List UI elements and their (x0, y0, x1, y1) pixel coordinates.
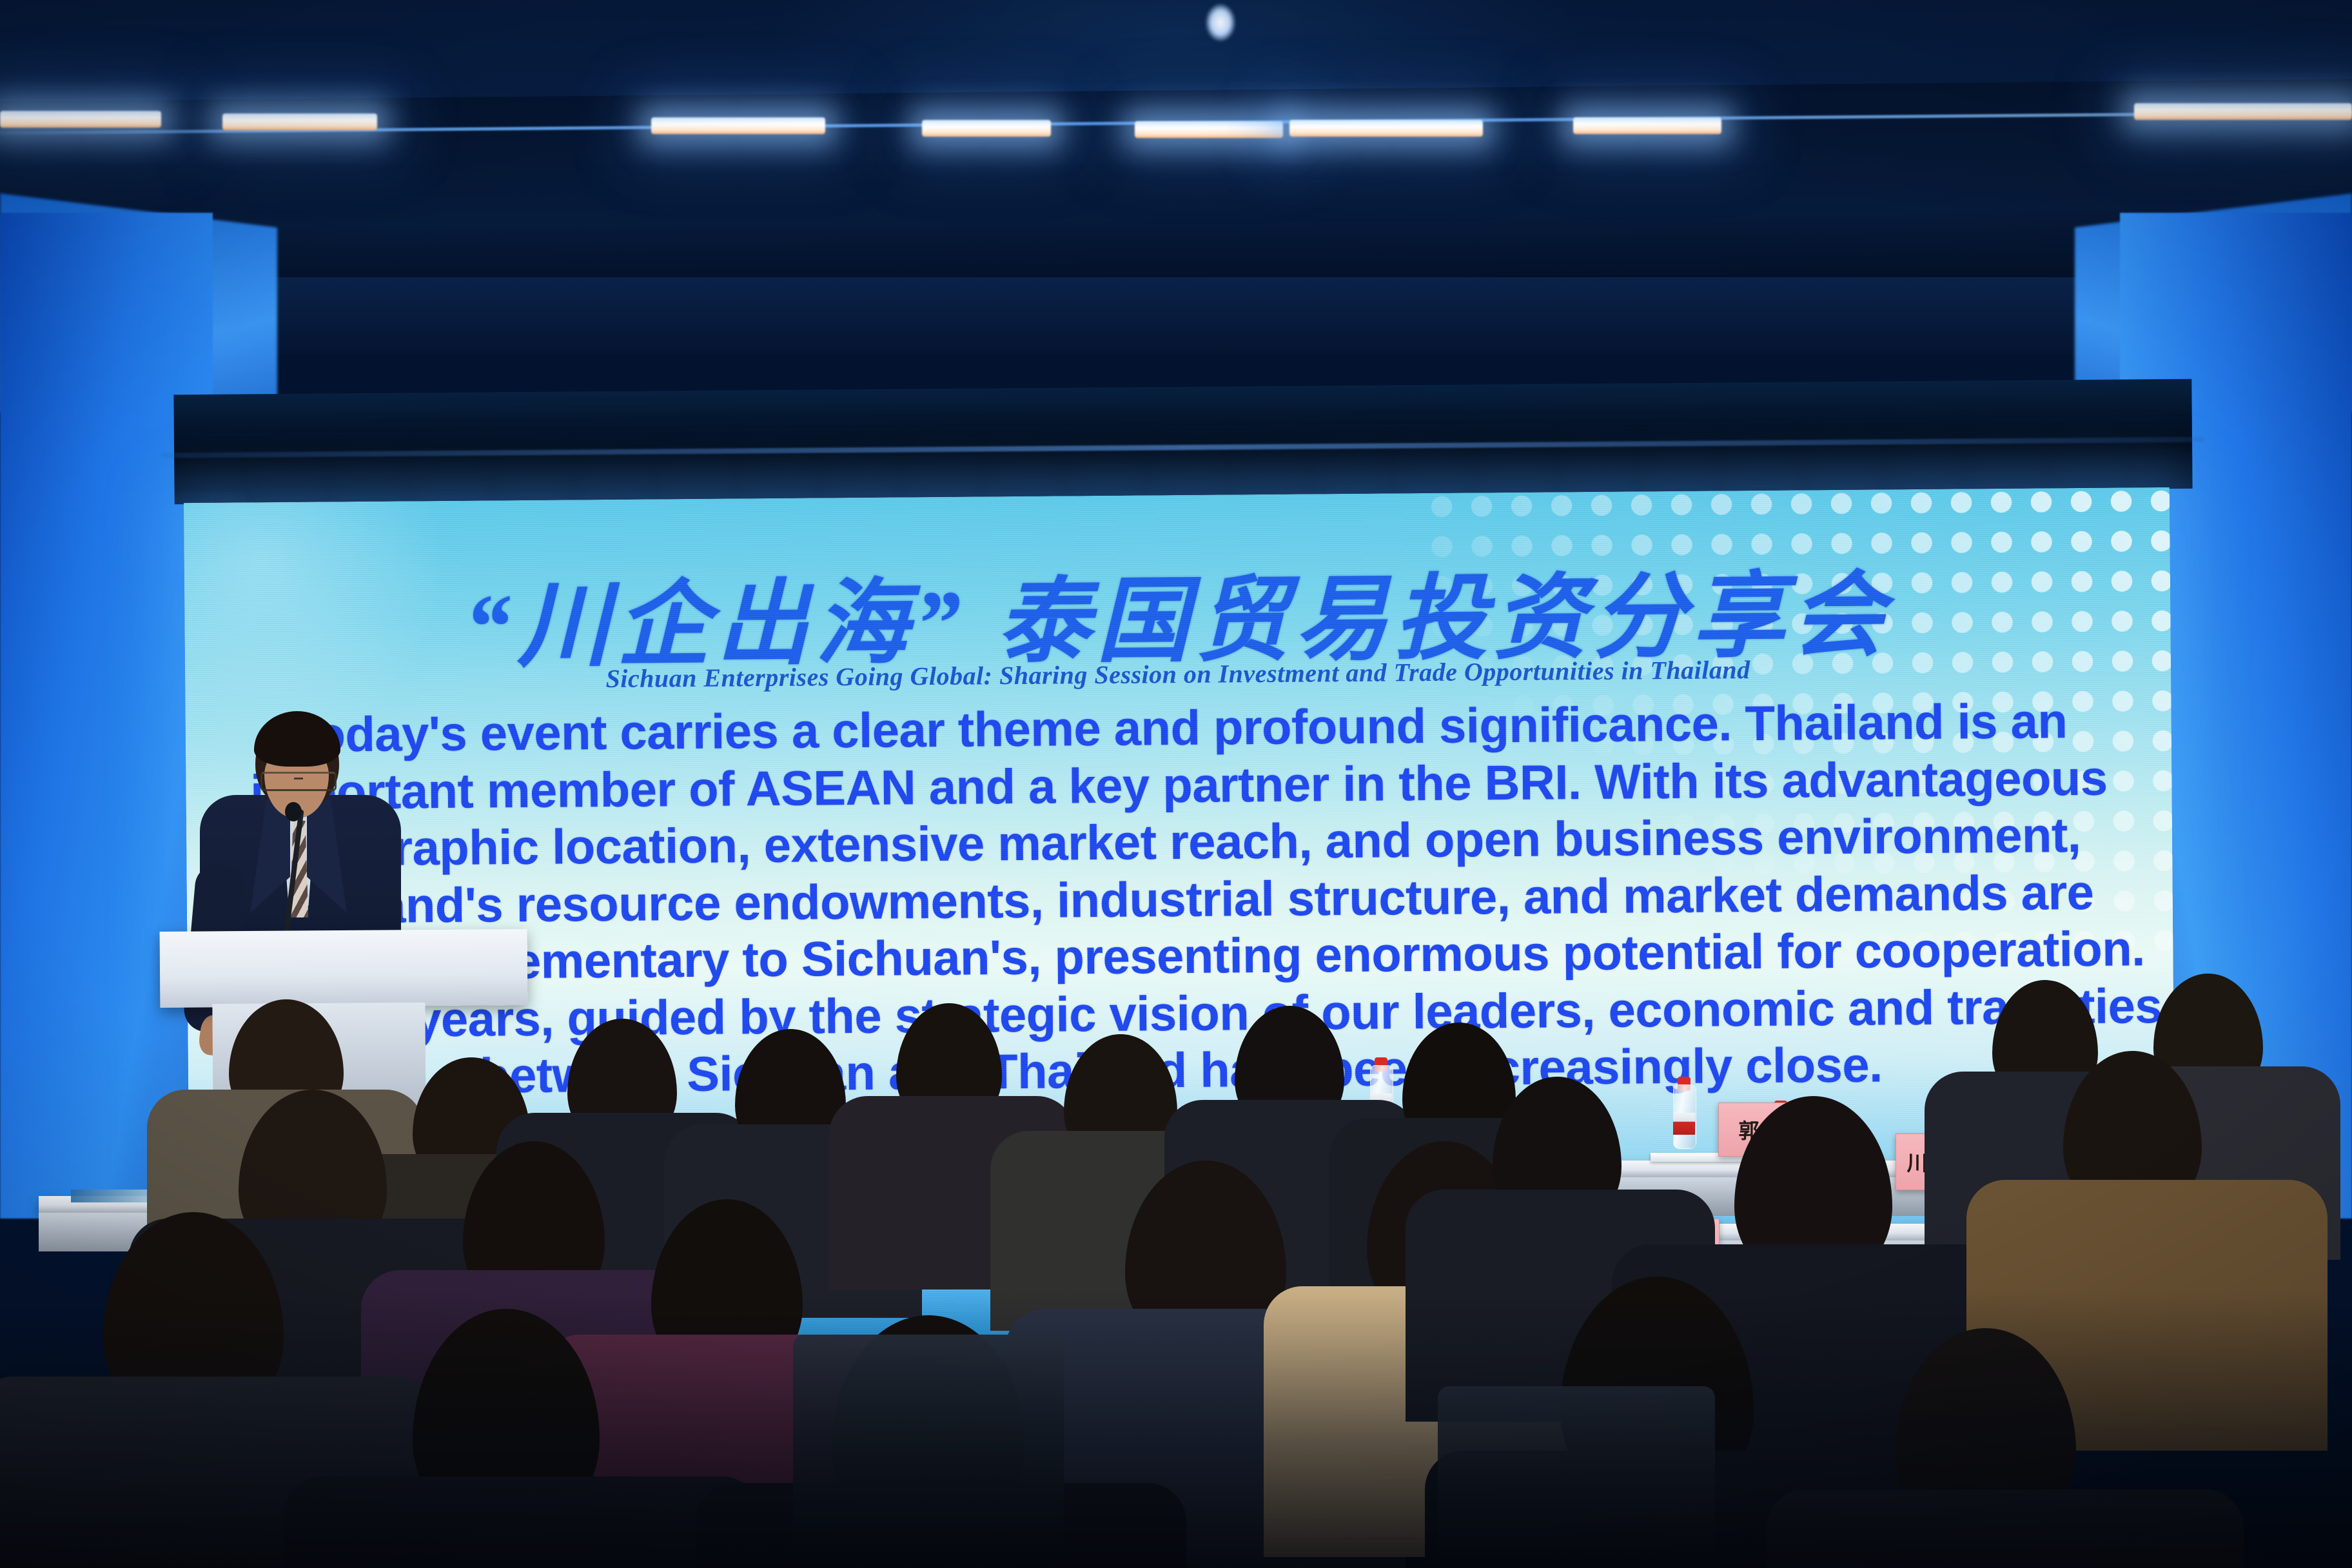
speaker-hair (254, 711, 340, 767)
ceiling-soffit (0, 277, 2352, 355)
ceiling-light-2 (222, 113, 377, 130)
ceiling-light-7 (1573, 117, 1721, 134)
speaker-glasses-icon (260, 772, 337, 791)
podium (160, 929, 528, 1008)
ceiling-light-5 (1135, 121, 1283, 138)
ceiling (0, 0, 2352, 335)
conference-hall-photo: “川企出海” 泰国贸易投资分享会 Sichuan Enterprises Goi… (0, 0, 2352, 1568)
attendee-shoulders (1767, 1489, 2244, 1568)
water-bottle (1673, 1077, 1695, 1149)
bottle-label (1673, 1113, 1695, 1135)
ceiling-light-4 (922, 120, 1051, 137)
ceiling-light-1 (0, 111, 161, 128)
microphone-icon (285, 802, 302, 821)
attendee-shoulders (284, 1476, 761, 1568)
ceiling-light-3 (651, 117, 825, 134)
chair (1438, 1386, 1715, 1568)
chair (793, 1335, 1064, 1567)
wall-left (0, 213, 213, 1219)
ceiling-light-8 (2134, 103, 2352, 120)
ceiling-spotlight-icon (1206, 4, 1235, 41)
ceiling-light-6 (1289, 120, 1483, 137)
